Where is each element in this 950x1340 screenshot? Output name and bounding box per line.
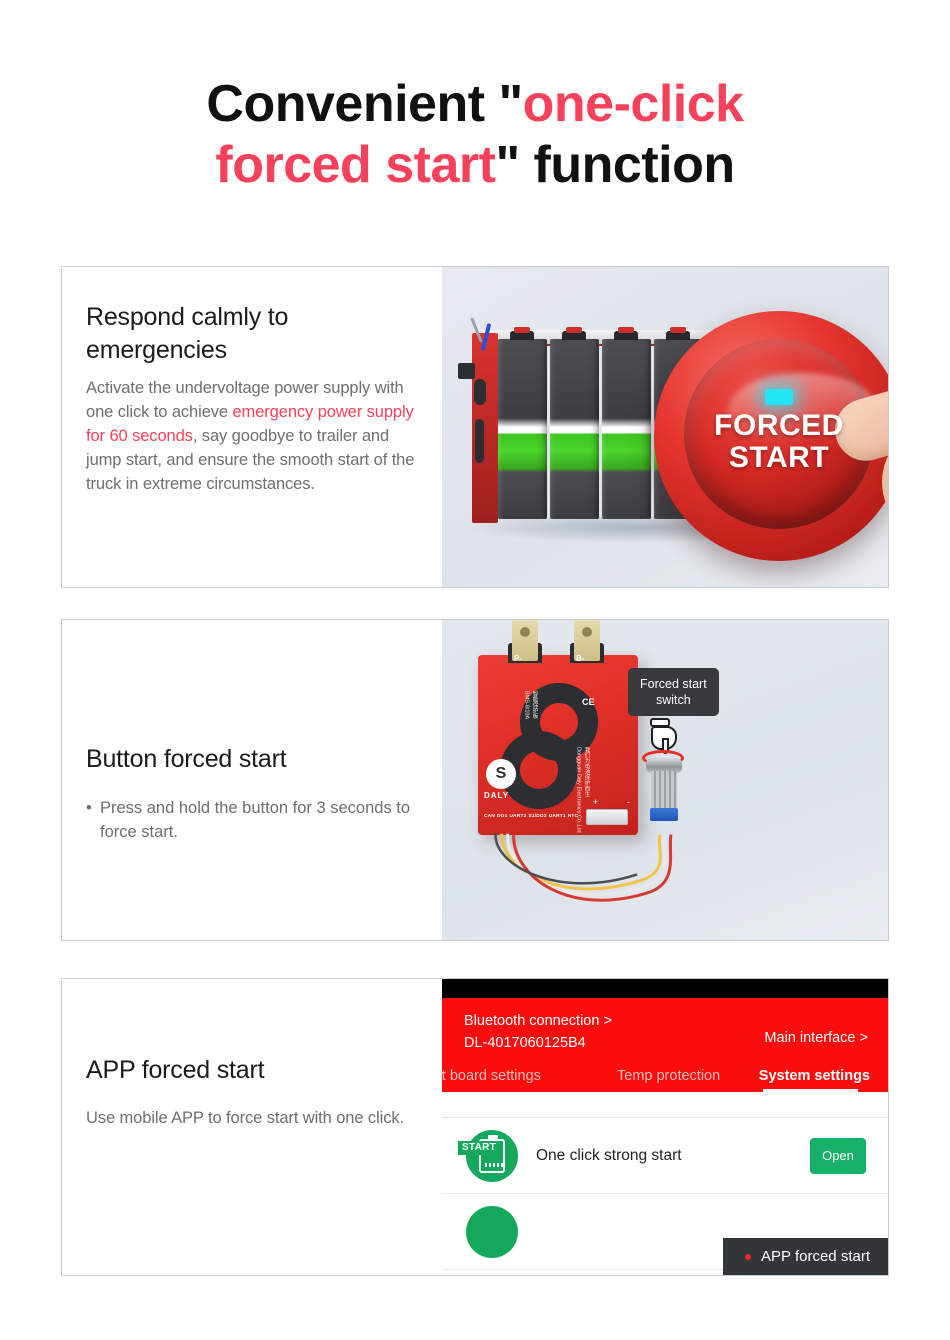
- battery-start-icon: START: [466, 1130, 518, 1182]
- battery-pack-scene: FORCED START: [442, 267, 888, 587]
- phone-status-bar: [442, 979, 888, 998]
- page-title-line-1: Convenient "one-click: [0, 74, 950, 135]
- feature-card-emergency: Respond calmly to emergencies Activate t…: [61, 266, 889, 588]
- list-top-spacer: [442, 1092, 888, 1118]
- page-root: Convenient "one-click forced start" func…: [0, 0, 950, 1340]
- feature-card-button-start: Button forced start • Press and hold the…: [61, 619, 889, 941]
- card-3-body: Use mobile APP to force start with one c…: [86, 1107, 416, 1131]
- page-title: Convenient "one-click forced start" func…: [0, 74, 950, 197]
- card-3-text-column: APP forced start Use mobile APP to force…: [62, 979, 442, 1275]
- hand-pressing-button: [838, 385, 888, 553]
- bluetooth-connection-block[interactable]: Bluetooth connection > DL-4017060125B4: [464, 1011, 612, 1055]
- app-forced-start-badge-label: APP forced start: [761, 1248, 870, 1265]
- tab-system-settings[interactable]: System settings: [759, 1068, 870, 1084]
- bluetooth-device-id: DL-4017060125B4: [464, 1033, 612, 1055]
- start-text-icon: START: [458, 1141, 500, 1155]
- battery-cell: [550, 339, 599, 519]
- battery-cell: [602, 339, 651, 519]
- title-part-accent-1: one-click: [523, 75, 744, 133]
- list-item-one-click-strong-start[interactable]: START One click strong start Open: [442, 1118, 888, 1194]
- battery-level-lines: [485, 1163, 503, 1167]
- list-item: • Press and hold the button for 3 second…: [86, 797, 416, 845]
- bluetooth-connection-label: Bluetooth connection >: [464, 1011, 612, 1033]
- card-2-image: P- B- 智能保护板 BMS-8/10A 我们为电池保护而生 Dongguan…: [442, 620, 888, 940]
- card-1-heading: Respond calmly to emergencies: [86, 301, 416, 367]
- tab-collect-board-settings[interactable]: llect board settings: [442, 1068, 541, 1084]
- bms-board-scene: P- B- 智能保护板 BMS-8/10A 我们为电池保护而生 Dongguan…: [442, 620, 888, 940]
- card-1-image: FORCED START: [442, 267, 888, 587]
- title-part-accent-2: forced start: [215, 136, 495, 194]
- card-2-text-column: Button forced start • Press and hold the…: [62, 620, 442, 940]
- button-label-line-2: START: [714, 442, 844, 474]
- feature-card-app-start: APP forced start Use mobile APP to force…: [61, 978, 889, 1276]
- app-tab-bar: llect board settings Temp protection Sys…: [442, 1059, 888, 1093]
- card-2-bullet-list: • Press and hold the button for 3 second…: [86, 797, 416, 845]
- open-button[interactable]: Open: [810, 1138, 866, 1174]
- button-label: FORCED START: [714, 410, 844, 474]
- status-led-icon: [765, 389, 793, 405]
- pack-bms-side-panel: [472, 333, 498, 523]
- button-label-line-1: FORCED: [714, 410, 844, 442]
- badge-dot-icon: [745, 1254, 751, 1260]
- title-part-plain-2: " function: [495, 136, 734, 194]
- mobile-app-screenshot: Bluetooth connection > DL-4017060125B4 M…: [442, 979, 888, 1275]
- card-1-body: Activate the undervoltage power supply w…: [86, 377, 416, 497]
- title-part-plain: Convenient ": [206, 75, 522, 133]
- pack-connector: [458, 363, 475, 379]
- card-3-image: Bluetooth connection > DL-4017060125B4 M…: [442, 979, 888, 1275]
- card-1-text-column: Respond calmly to emergencies Activate t…: [62, 267, 442, 587]
- wire-harness: [442, 620, 888, 940]
- list-item-label: One click strong start: [536, 1147, 810, 1165]
- tab-temp-protection[interactable]: Temp protection: [617, 1068, 720, 1084]
- card-2-bullet-text: Press and hold the button for 3 seconds …: [100, 797, 416, 845]
- main-interface-link[interactable]: Main interface >: [764, 1030, 868, 1046]
- app-forced-start-badge: APP forced start: [723, 1238, 888, 1275]
- battery-cell: [498, 339, 547, 519]
- card-2-heading: Button forced start: [86, 743, 426, 776]
- list-item-icon: [466, 1206, 518, 1258]
- page-title-line-2: forced start" function: [0, 135, 950, 196]
- card-3-heading: APP forced start: [86, 1054, 426, 1087]
- bullet-icon: •: [86, 797, 100, 845]
